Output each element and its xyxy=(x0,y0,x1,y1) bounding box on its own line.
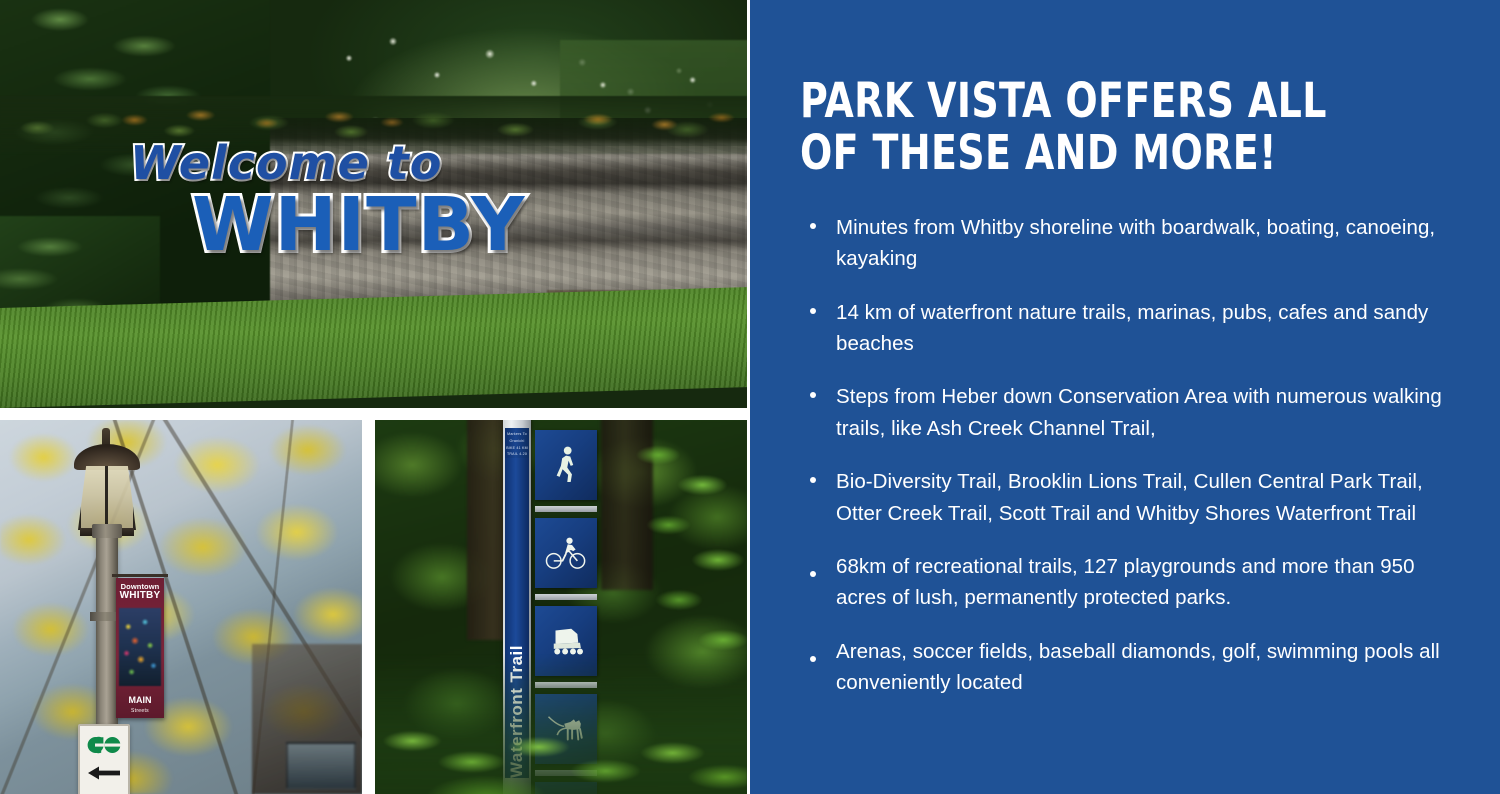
banner-footer: MAIN Streets xyxy=(116,690,164,714)
list-item: 14 km of waterfront nature trails, marin… xyxy=(802,297,1467,360)
foreground-plants xyxy=(375,654,747,794)
banner-line-2: WHITBY xyxy=(116,591,164,602)
list-item: Minutes from Whitby shoreline with board… xyxy=(802,212,1467,275)
go-logo-icon xyxy=(87,735,121,755)
trail-info-line-0: Markers To xyxy=(506,431,528,438)
banner-arm xyxy=(112,574,168,577)
lamp-post-collar-top xyxy=(92,524,122,538)
marketing-collage-page: Welcome to WHITBY xyxy=(0,0,1500,794)
list-item-text: Steps from Heber down Conservation Area … xyxy=(836,385,1442,439)
list-item-text: Arenas, soccer fields, baseball diamonds… xyxy=(836,640,1440,694)
left-arrow-icon xyxy=(88,766,120,780)
lantern-glass xyxy=(78,466,136,530)
banner-footer-main: MAIN xyxy=(129,695,152,705)
feature-list: Minutes from Whitby shoreline with board… xyxy=(802,212,1467,720)
tile-walking xyxy=(535,430,597,500)
list-item-text: Minutes from Whitby shoreline with board… xyxy=(836,216,1435,270)
tile-separator-1 xyxy=(535,506,597,512)
list-item-text: 14 km of waterfront nature trails, marin… xyxy=(836,301,1428,355)
go-transit-sign xyxy=(78,724,130,794)
background-building xyxy=(252,644,362,794)
banner-footer-sub: Streets xyxy=(116,708,164,714)
downtown-whitby-banner: Downtown WHITBY MAIN Streets xyxy=(116,578,164,718)
banner-heading: Downtown WHITBY xyxy=(116,583,164,601)
photo-welcome-sign: Welcome to WHITBY xyxy=(0,0,747,408)
list-item-text: 68km of recreational trails, 127 playgro… xyxy=(836,555,1415,609)
list-item: Bio-Diversity Trail, Brooklin Lions Trai… xyxy=(802,466,1467,529)
photo-lamppost: Downtown WHITBY MAIN Streets xyxy=(0,420,362,794)
rollerblading-icon xyxy=(545,625,587,657)
walking-icon xyxy=(549,444,583,486)
panel-title: Park Vista offers all of these and more! xyxy=(800,76,1363,180)
lawn xyxy=(0,287,747,408)
tile-separator-2 xyxy=(535,594,597,600)
photo-collage: Welcome to WHITBY xyxy=(0,0,750,794)
list-item: 68km of recreational trails, 127 playgro… xyxy=(802,551,1467,614)
cycling-icon xyxy=(545,535,587,571)
list-item: Arenas, soccer fields, baseball diamonds… xyxy=(802,636,1467,699)
info-panel: Park Vista offers all of these and more!… xyxy=(750,0,1500,794)
tile-cycling xyxy=(535,518,597,588)
banner-artwork xyxy=(119,608,161,686)
list-item: Steps from Heber down Conservation Area … xyxy=(802,381,1467,444)
ivy-autumn-patch-left xyxy=(95,100,425,140)
photo-waterfront-trail: Markers To Oranichi BIKE 41 KM TRAIL 4.2… xyxy=(375,420,747,794)
foliage-right xyxy=(627,430,747,680)
trail-info-line-2: BIKE 41 KM xyxy=(506,445,528,452)
list-item-text: Bio-Diversity Trail, Brooklin Lions Trai… xyxy=(836,470,1423,524)
ivy-autumn-patch-right xyxy=(560,100,747,144)
building-window xyxy=(286,742,356,790)
trail-info-line-1: Oranichi xyxy=(506,438,528,445)
